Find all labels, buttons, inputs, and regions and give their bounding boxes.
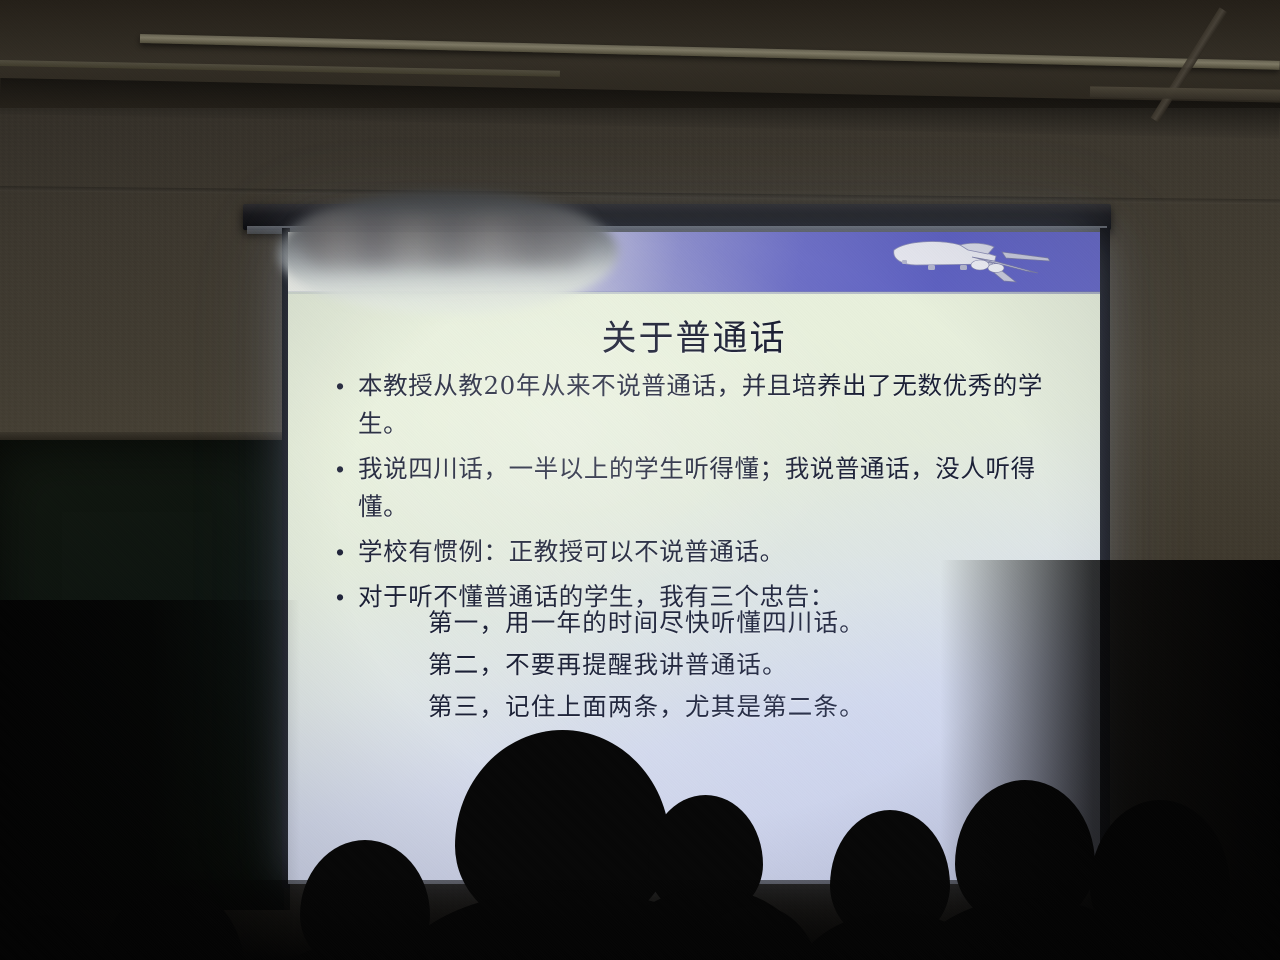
bullet-text: 我说四川话，一半以上的学生听得懂；我说普通话，没人听得懂。 bbox=[358, 450, 1072, 526]
bullet-marker-icon: • bbox=[332, 367, 358, 405]
bullet-marker-icon: • bbox=[332, 450, 358, 488]
blurred-censored-text bbox=[300, 214, 590, 266]
bullet-marker-icon: • bbox=[332, 578, 358, 616]
slide-title: 关于普通话 bbox=[288, 310, 1100, 361]
bullet-marker-icon: • bbox=[332, 533, 358, 571]
list-item: • 本教授从教20年从来不说普通话，并且培养出了无数优秀的学生。 bbox=[332, 367, 1072, 443]
list-item: • 我说四川话，一半以上的学生听得懂；我说普通话，没人听得懂。 bbox=[332, 450, 1072, 526]
airplane-icon bbox=[876, 234, 1066, 292]
classroom-scene: 关于普通话 • 本教授从教20年从来不说普通话，并且培养出了无数优秀的学生。 •… bbox=[0, 0, 1280, 960]
left-edge-shadow bbox=[0, 600, 300, 960]
right-edge-shadow bbox=[940, 560, 1280, 960]
bullet-text: 本教授从教20年从来不说普通话，并且培养出了无数优秀的学生。 bbox=[358, 367, 1072, 443]
